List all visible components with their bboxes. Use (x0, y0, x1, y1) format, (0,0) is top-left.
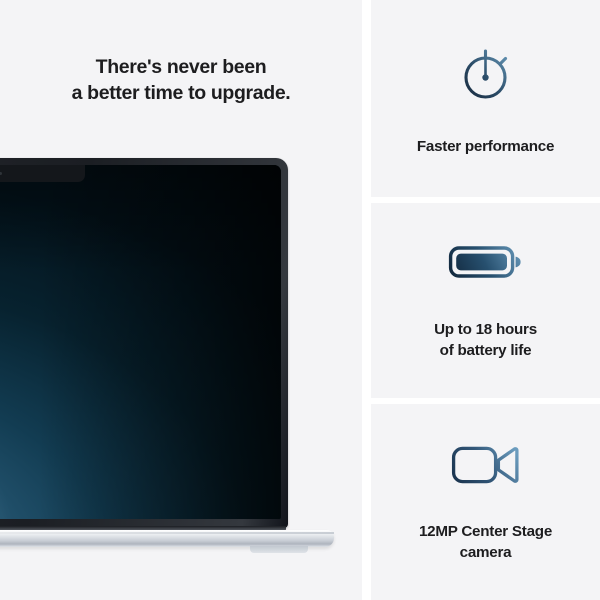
laptop-screen (0, 165, 281, 519)
video-camera-icon (450, 442, 522, 493)
webcam-dot (0, 172, 2, 175)
feature-label: Faster performance (407, 136, 564, 157)
laptop-base-lip (0, 532, 334, 534)
wallpaper-glow (0, 165, 281, 519)
battery-icon (447, 240, 525, 289)
laptop-base (0, 530, 334, 547)
feature-card-list: Faster performance U (371, 0, 600, 600)
laptop-lid (0, 158, 288, 528)
stopwatch-icon (454, 41, 518, 110)
promo-panel: There's never been a better time to upgr… (0, 0, 600, 600)
product-showcase-panel: There's never been a better time to upgr… (0, 0, 362, 600)
feature-card-battery[interactable]: Up to 18 hours of battery life (371, 203, 600, 398)
laptop-foot (250, 546, 308, 553)
promo-headline: There's never been a better time to upgr… (0, 54, 362, 106)
feature-card-camera[interactable]: 12MP Center Stage camera (371, 404, 600, 600)
wallpaper-vignette (0, 165, 281, 519)
screen-wallpaper (0, 165, 281, 519)
screen-notch (0, 165, 85, 182)
feature-card-performance[interactable]: Faster performance (371, 0, 600, 197)
feature-label: Up to 18 hours of battery life (424, 319, 547, 361)
macbook-air-image (0, 158, 290, 558)
feature-label: 12MP Center Stage camera (409, 521, 562, 563)
